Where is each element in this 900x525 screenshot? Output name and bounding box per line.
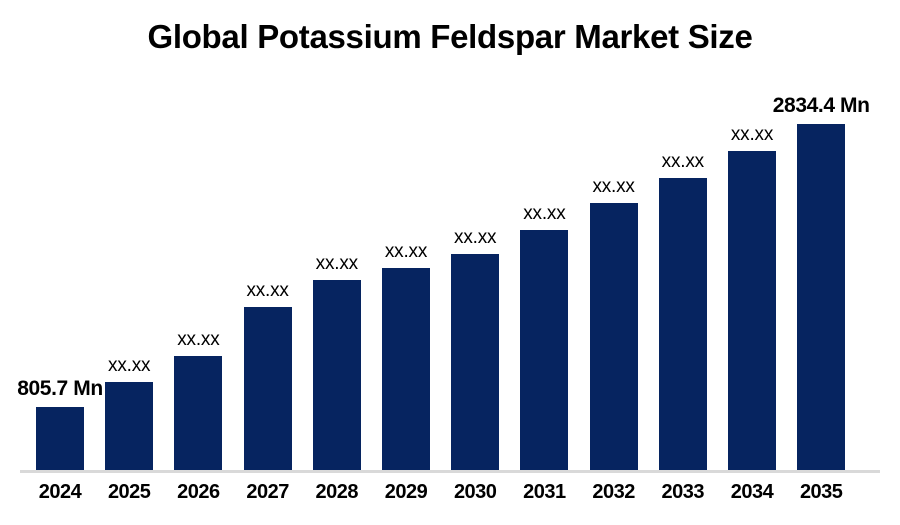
- bar-2025: [105, 382, 153, 470]
- bar-value-label-2034: xx.xx: [707, 124, 797, 146]
- x-tick-2028: 2028: [297, 481, 377, 504]
- plot-area: 805.7 Mnxx.xxxx.xxxx.xxxx.xxxx.xxxx.xxxx…: [0, 0, 900, 525]
- x-tick-2034: 2034: [712, 481, 792, 504]
- bar-2035: [797, 124, 845, 470]
- bar-2026: [174, 356, 222, 470]
- bar-value-label-2026: xx.xx: [153, 329, 243, 351]
- x-tick-2032: 2032: [574, 481, 654, 504]
- bar-value-label-2032: xx.xx: [569, 176, 659, 198]
- bar-2028: [313, 280, 361, 470]
- x-tick-2025: 2025: [89, 481, 169, 504]
- bar-2029: [382, 268, 430, 470]
- x-tick-2030: 2030: [435, 481, 515, 504]
- bar-value-label-2025: xx.xx: [84, 355, 174, 377]
- bar-value-label-2030: xx.xx: [430, 227, 520, 249]
- bar-2031: [520, 230, 568, 470]
- x-tick-2026: 2026: [158, 481, 238, 504]
- bar-value-label-2033: xx.xx: [638, 151, 728, 173]
- x-tick-2031: 2031: [504, 481, 584, 504]
- market-size-bar-chart: Global Potassium Feldspar Market Size 80…: [0, 0, 900, 525]
- x-axis-line: [20, 470, 880, 473]
- bar-2027: [244, 307, 292, 470]
- x-tick-2024: 2024: [20, 481, 100, 504]
- bar-value-label-2035: 2834.4 Mn: [741, 94, 900, 118]
- x-tick-2027: 2027: [228, 481, 308, 504]
- bar-2024: [36, 407, 84, 470]
- bar-value-label-2027: xx.xx: [223, 280, 313, 302]
- bar-value-label-2031: xx.xx: [499, 203, 589, 225]
- bar-2034: [728, 151, 776, 470]
- bar-2030: [451, 254, 499, 470]
- x-tick-2029: 2029: [366, 481, 446, 504]
- bar-2032: [590, 203, 638, 470]
- x-tick-2033: 2033: [643, 481, 723, 504]
- bar-2033: [659, 178, 707, 470]
- x-tick-2035: 2035: [781, 481, 861, 504]
